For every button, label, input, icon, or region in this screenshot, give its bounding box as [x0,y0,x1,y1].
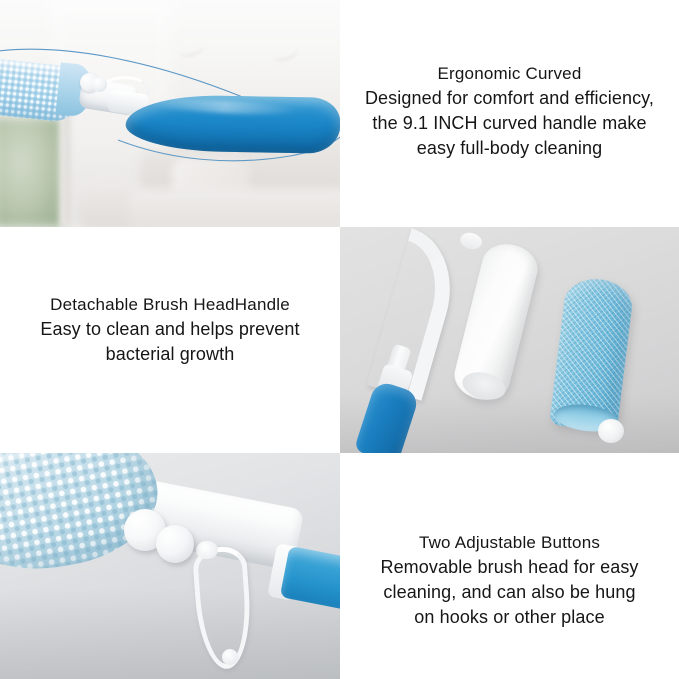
caption-body-line: bacterial growth [106,342,235,367]
caption-body-line: cleaning, and can also be hung [383,580,635,605]
caption-body-line: Easy to clean and helps prevent [40,317,299,342]
surface-shadow [0,589,340,679]
caption-body-line: the 9.1 INCH curved handle make [372,111,646,136]
photo-ergonomic-curved-handle [0,0,340,227]
caption-body-line: easy full-body cleaning [417,136,602,161]
caption-two-adjustable-buttons: Two Adjustable Buttons Removable brush h… [340,453,679,679]
caption-body-line: on hooks or other place [414,605,604,630]
white-ball-tip [598,419,624,443]
caption-body-line: Designed for comfort and efficiency, [365,86,654,111]
loop-end-bead [222,649,238,665]
photo-adjustable-buttons [0,453,340,679]
caption-body-line: Removable brush head for easy [380,555,638,580]
caption-ergonomic-curved: Ergonomic Curved Designed for comfort an… [340,0,679,227]
caption-title: Two Adjustable Buttons [419,531,600,555]
caption-title: Ergonomic Curved [438,62,582,86]
loop-knot [196,541,218,559]
adjustable-button-two [156,525,194,563]
caption-detachable-brush-head: Detachable Brush HeadHandle Easy to clea… [0,227,340,453]
adjust-button [92,77,107,92]
photo-disassembled-parts [340,227,679,453]
caption-title: Detachable Brush HeadHandle [50,293,290,317]
product-infographic: Ergonomic Curved Designed for comfort an… [0,0,679,679]
